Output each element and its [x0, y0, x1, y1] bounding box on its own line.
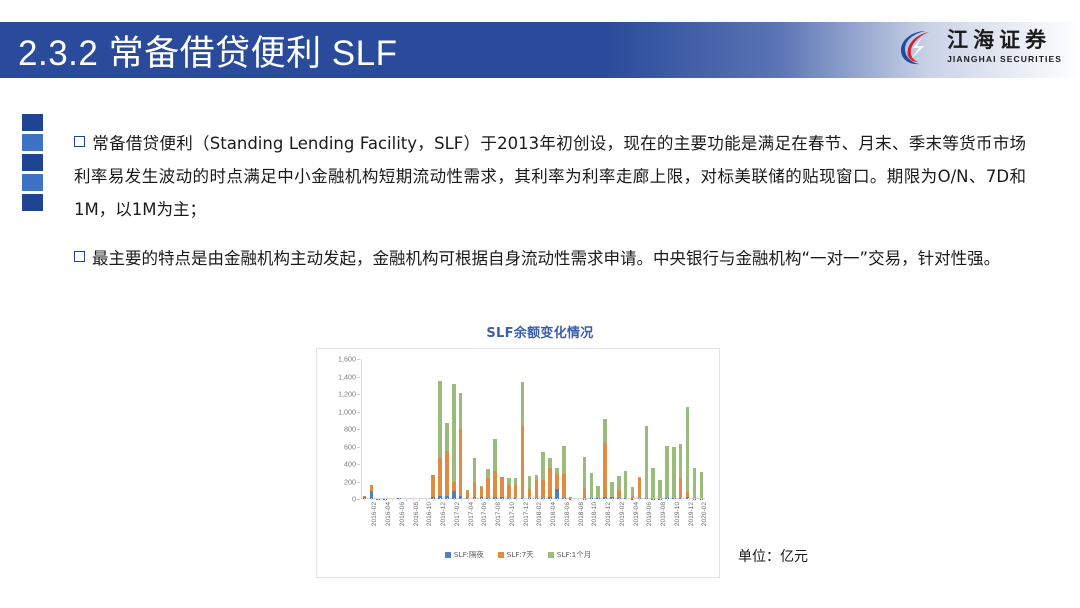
bar-segment	[562, 474, 565, 498]
stacked-bar	[363, 359, 366, 499]
x-axis-label-cell	[622, 501, 629, 553]
x-axis-label-cell: 2017-06	[478, 501, 485, 553]
x-axis-label-cell: 2019-12	[684, 501, 691, 553]
square-bullet-icon	[74, 136, 85, 147]
stacked-bar	[459, 359, 462, 499]
x-axis-tick	[433, 498, 434, 501]
x-axis-tick	[371, 498, 372, 501]
x-axis-tick	[653, 498, 654, 501]
bar-column	[395, 359, 402, 499]
x-axis-label-cell: 2016-02	[368, 501, 375, 553]
stacked-bar	[397, 359, 400, 499]
bar-segment	[645, 426, 648, 498]
x-axis-tick	[701, 498, 702, 501]
y-axis-tick-label: 1,000	[338, 407, 356, 416]
square-bullet-icon	[74, 251, 85, 262]
bar-segment	[541, 480, 544, 498]
slide-root: 2.3.2 常备借贷便利 SLF 江海证券 JIANGHAI SECURITIE…	[0, 0, 1080, 608]
bar-column	[499, 359, 506, 499]
y-axis-tick	[357, 482, 360, 483]
bar-segment	[535, 480, 538, 498]
x-axis-label-cell: 2018-02	[533, 501, 540, 553]
x-axis-tick	[543, 498, 544, 501]
x-axis-labels: 2016-022016-042016-062016-082016-102016-…	[361, 501, 705, 553]
stacked-bar	[418, 359, 421, 499]
bar-column	[670, 359, 677, 499]
x-axis-tick	[578, 498, 579, 501]
bar-segment	[459, 393, 462, 429]
bullet-paragraph-2: 最主要的特点是由金融机构主动发起，金融机构可根据自身流动性需求申请。中央银行与金…	[74, 242, 1026, 275]
bar-segment	[459, 429, 462, 497]
stacked-bar	[658, 359, 661, 499]
x-axis-label-cell: 2017-10	[505, 501, 512, 553]
bar-column	[361, 359, 368, 499]
stacked-bar	[645, 359, 648, 499]
x-axis-label-cell	[567, 501, 574, 553]
stacked-bar	[493, 359, 496, 499]
bar-segment	[672, 447, 675, 499]
stacked-bar	[617, 359, 620, 499]
chart-legend: SLF:隔夜SLF:7天SLF:1个月	[317, 549, 719, 560]
stacked-bar	[425, 359, 428, 499]
stacked-bar	[438, 359, 441, 499]
legend-item[interactable]: SLF:7天	[498, 549, 534, 560]
x-axis-tick	[364, 498, 365, 501]
bar-segment	[521, 426, 524, 499]
stacked-bar	[693, 359, 696, 499]
bar-segment	[596, 486, 599, 498]
x-axis-label-cell	[361, 501, 368, 553]
bar-column	[505, 359, 512, 499]
bar-column	[409, 359, 416, 499]
x-axis-label-cell	[677, 501, 684, 553]
x-axis-label-cell: 2020-02	[698, 501, 705, 553]
x-axis-label-cell: 2018-12	[602, 501, 609, 553]
x-axis-label-cell: 2016-12	[437, 501, 444, 553]
x-axis-tick	[571, 498, 572, 501]
legend-swatch-icon	[498, 552, 504, 558]
bar-column	[512, 359, 519, 499]
y-axis-tick-label: 1,600	[338, 355, 356, 364]
bar-segment	[473, 482, 476, 496]
x-axis-tick	[426, 498, 427, 501]
x-axis-label-cell: 2017-04	[464, 501, 471, 553]
bar-segment	[651, 468, 654, 498]
stacked-bar	[603, 359, 606, 499]
bar-column	[375, 359, 382, 499]
stacked-bar	[431, 359, 434, 499]
y-axis-tick	[357, 359, 360, 360]
stacked-bar	[370, 359, 373, 499]
bar-column	[677, 359, 684, 499]
stacked-bar	[700, 359, 703, 499]
bar-column	[643, 359, 650, 499]
bar-segment	[445, 423, 448, 451]
bar-column	[622, 359, 629, 499]
logo-name-cn: 江海证券	[947, 30, 1062, 51]
bar-column	[650, 359, 657, 499]
page-title: 2.3.2 常备借贷便利 SLF	[18, 22, 397, 78]
deco-square-5	[22, 194, 43, 211]
bar-segment	[638, 478, 641, 498]
y-axis-tick-label: 1,200	[338, 390, 356, 399]
stacked-bar	[672, 359, 675, 499]
legend-swatch-icon	[445, 552, 451, 558]
x-axis-tick	[674, 498, 675, 501]
bar-segment	[480, 487, 483, 497]
bar-segment	[528, 489, 531, 498]
deco-square-2	[22, 134, 43, 151]
x-axis-tick	[481, 498, 482, 501]
x-axis-label-cell	[416, 501, 423, 553]
legend-item[interactable]: SLF:1个月	[548, 549, 591, 560]
legend-item[interactable]: SLF:隔夜	[445, 549, 484, 560]
bar-column	[478, 359, 485, 499]
bar-column	[615, 359, 622, 499]
x-axis-tick	[454, 498, 455, 501]
x-axis-tick	[413, 498, 414, 501]
stacked-bar	[555, 359, 558, 499]
x-axis-tick	[688, 498, 689, 501]
x-axis-tick	[681, 498, 682, 501]
bar-segment	[603, 419, 606, 444]
x-axis-label-cell	[581, 501, 588, 553]
bar-column	[602, 359, 609, 499]
x-axis-tick	[523, 498, 524, 501]
bar-segment	[686, 407, 689, 492]
x-axis-tick	[605, 498, 606, 501]
x-axis-tick	[639, 498, 640, 501]
bar-column	[574, 359, 581, 499]
stacked-bar	[390, 359, 393, 499]
bar-column	[430, 359, 437, 499]
x-axis-label-cell: 2018-10	[588, 501, 595, 553]
bar-segment	[658, 480, 661, 498]
bar-column	[540, 359, 547, 499]
x-axis-tick	[488, 498, 489, 501]
stacked-bar	[480, 359, 483, 499]
stacked-bar	[473, 359, 476, 499]
bullet-paragraph-1: 常备借贷便利（Standing Lending Facility，SLF）于20…	[74, 127, 1026, 226]
stacked-bar	[651, 359, 654, 499]
x-axis-tick	[584, 498, 585, 501]
y-axis-tick	[357, 429, 360, 430]
bar-column	[609, 359, 616, 499]
x-axis-label-cell: 2017-02	[450, 501, 457, 553]
x-axis-label-cell: 2019-02	[615, 501, 622, 553]
deco-square-4	[22, 174, 43, 191]
x-axis-label-cell: 2017-12	[519, 501, 526, 553]
bar-segment	[679, 478, 682, 497]
x-axis-tick	[598, 498, 599, 501]
bar-segment	[528, 476, 531, 490]
x-axis-label-cell	[540, 501, 547, 553]
stacked-bar	[679, 359, 682, 499]
bar-column	[588, 359, 595, 499]
bar-column	[581, 359, 588, 499]
deco-square-3	[22, 154, 43, 171]
x-axis-label-cell: 2016-10	[423, 501, 430, 553]
x-axis-label-cell: 2019-06	[643, 501, 650, 553]
bar-segment	[431, 475, 434, 498]
unit-annotation: 单位：亿元	[738, 546, 808, 566]
stacked-bar	[610, 359, 613, 499]
stacked-bar	[514, 359, 517, 499]
bar-column	[450, 359, 457, 499]
bar-segment	[493, 471, 496, 497]
jianghai-swoosh-icon	[896, 26, 938, 68]
stacked-bar	[596, 359, 599, 499]
stacked-bar	[383, 359, 386, 499]
bar-segment	[555, 474, 558, 489]
x-axis-label-cell	[650, 501, 657, 553]
x-axis-tick	[440, 498, 441, 501]
legend-label: SLF:隔夜	[454, 549, 484, 560]
x-axis-label-cell: 2018-06	[560, 501, 567, 553]
legend-swatch-icon	[548, 552, 554, 558]
x-axis-label-cell	[375, 501, 382, 553]
bar-segment	[603, 443, 606, 497]
x-axis-label-cell	[471, 501, 478, 553]
y-axis-tick	[357, 447, 360, 448]
y-axis-tick	[357, 377, 360, 378]
chart-title: SLF余额变化情况	[0, 322, 1080, 341]
x-axis-label-cell: 2016-04	[382, 501, 389, 553]
bar-column	[698, 359, 705, 499]
bar-segment	[438, 458, 441, 496]
bar-column	[554, 359, 561, 499]
bar-segment	[548, 468, 551, 497]
legend-label: SLF:7天	[507, 549, 534, 560]
bar-column	[547, 359, 554, 499]
stacked-bar	[638, 359, 641, 499]
x-axis-label-cell	[389, 501, 396, 553]
x-axis-tick	[392, 498, 393, 501]
stacked-bar	[631, 359, 634, 499]
bar-segment	[445, 451, 448, 497]
x-axis-tick	[536, 498, 537, 501]
bar-segment	[610, 482, 613, 496]
bar-segment	[486, 478, 489, 498]
x-axis-label-cell: 2017-08	[492, 501, 499, 553]
bar-segment	[473, 458, 476, 482]
stacked-bar	[665, 359, 668, 499]
bar-segment	[514, 478, 517, 485]
bar-segment	[493, 439, 496, 471]
decorative-squares	[22, 114, 43, 211]
bar-column	[636, 359, 643, 499]
chart-plot-area: 02004006008001,0001,2001,4001,600	[361, 359, 705, 499]
x-axis-tick	[529, 498, 530, 501]
y-axis-tick-label: 800	[344, 425, 356, 434]
x-axis-tick	[660, 498, 661, 501]
bar-segment	[583, 488, 586, 499]
x-axis-label-cell: 2019-04	[629, 501, 636, 553]
bar-column	[464, 359, 471, 499]
x-axis-tick	[461, 498, 462, 501]
bar-segment	[590, 473, 593, 498]
x-axis-tick-label: 2020-02	[701, 502, 708, 526]
stacked-bar	[376, 359, 379, 499]
bar-column	[519, 359, 526, 499]
x-axis-tick	[619, 498, 620, 501]
bar-column	[664, 359, 671, 499]
bar-column	[492, 359, 499, 499]
stacked-bar	[528, 359, 531, 499]
x-axis-label-cell	[691, 501, 698, 553]
bar-segment	[562, 446, 565, 474]
stacked-bar	[507, 359, 510, 499]
bar-segment	[617, 490, 620, 498]
x-axis-label-cell	[554, 501, 561, 553]
x-axis-tick	[557, 498, 558, 501]
paragraph-1-text: 常备借贷便利（Standing Lending Facility，SLF）于20…	[74, 134, 1026, 219]
logo-text-block: 江海证券 JIANGHAI SECURITIES	[947, 30, 1062, 64]
deco-square-1	[22, 114, 43, 131]
stacked-bar	[411, 359, 414, 499]
stacked-bar	[590, 359, 593, 499]
stacked-bar	[624, 359, 627, 499]
x-axis-tick	[406, 498, 407, 501]
bar-column	[382, 359, 389, 499]
bar-segment	[693, 468, 696, 499]
stacked-bar	[562, 359, 565, 499]
company-logo: 江海证券 JIANGHAI SECURITIES	[896, 26, 1062, 68]
bar-segment	[452, 482, 455, 492]
bar-segment	[631, 487, 634, 497]
x-axis-label-cell	[595, 501, 602, 553]
bar-column	[457, 359, 464, 499]
x-axis-label-cell	[402, 501, 409, 553]
bar-column	[595, 359, 602, 499]
bar-column	[444, 359, 451, 499]
x-axis-tick	[591, 498, 592, 501]
logo-name-en: JIANGHAI SECURITIES	[947, 55, 1062, 64]
bar-segment	[514, 485, 517, 498]
body-content: 常备借贷便利（Standing Lending Facility，SLF）于20…	[74, 110, 1026, 277]
bar-column	[402, 359, 409, 499]
x-axis-tick	[385, 498, 386, 501]
bar-column	[533, 359, 540, 499]
legend-label: SLF:1个月	[557, 549, 591, 560]
stacked-bar	[583, 359, 586, 499]
x-axis-tick	[550, 498, 551, 501]
x-axis-tick	[564, 498, 565, 501]
x-axis-tick	[516, 498, 517, 501]
bar-segment	[507, 485, 510, 499]
x-axis-label-cell	[430, 501, 437, 553]
x-axis-tick	[502, 498, 503, 501]
bar-segment	[541, 452, 544, 480]
stacked-bar	[452, 359, 455, 499]
bar-segment	[500, 477, 503, 497]
bar-column	[389, 359, 396, 499]
x-axis-tick	[474, 498, 475, 501]
x-axis-tick	[612, 498, 613, 501]
bar-segment	[548, 458, 551, 469]
x-axis-tick	[646, 498, 647, 501]
bar-column	[560, 359, 567, 499]
chart-container: 02004006008001,0001,2001,4001,600 2016-0…	[316, 348, 720, 578]
bar-segment	[679, 444, 682, 478]
y-axis-tick	[357, 499, 360, 500]
x-axis-tick	[626, 498, 627, 501]
bar-column	[368, 359, 375, 499]
x-axis-label-cell: 2019-08	[657, 501, 664, 553]
bar-segment	[438, 381, 441, 458]
y-axis-tick	[357, 394, 360, 395]
y-axis-tick	[357, 412, 360, 413]
x-axis-label-cell: 2019-10	[670, 501, 677, 553]
bar-column	[416, 359, 423, 499]
x-axis-tick	[667, 498, 668, 501]
bar-segment	[665, 446, 668, 499]
bar-column	[657, 359, 664, 499]
bar-series-group	[361, 359, 705, 499]
x-axis-label-cell: 2016-06	[395, 501, 402, 553]
x-axis-tick	[468, 498, 469, 501]
bar-segment	[486, 469, 489, 477]
bar-segment	[617, 476, 620, 490]
bar-column	[567, 359, 574, 499]
bar-column	[423, 359, 430, 499]
bar-column	[485, 359, 492, 499]
x-axis-tick	[447, 498, 448, 501]
x-axis-label-cell	[457, 501, 464, 553]
stacked-bar	[486, 359, 489, 499]
x-axis-tick	[419, 498, 420, 501]
x-axis-label-cell	[526, 501, 533, 553]
stacked-bar	[569, 359, 572, 499]
stacked-bar	[466, 359, 469, 499]
x-axis-label-cell	[499, 501, 506, 553]
bar-column	[629, 359, 636, 499]
y-axis-tick-label: 400	[344, 460, 356, 469]
y-axis-tick-label: 200	[344, 477, 356, 486]
y-axis-tick-label: 1,400	[338, 372, 356, 381]
x-axis-tick	[509, 498, 510, 501]
stacked-bar	[404, 359, 407, 499]
x-axis-label-cell	[512, 501, 519, 553]
stacked-bar	[500, 359, 503, 499]
x-axis-label-cell: 2016-08	[409, 501, 416, 553]
paragraph-2-text: 最主要的特点是由金融机构主动发起，金融机构可根据自身流动性需求申请。中央银行与金…	[92, 249, 1000, 268]
x-axis-tick	[495, 498, 496, 501]
bar-column	[437, 359, 444, 499]
bar-column	[691, 359, 698, 499]
x-axis-label-cell	[636, 501, 643, 553]
x-axis-tick	[694, 498, 695, 501]
bar-column	[526, 359, 533, 499]
bar-segment	[700, 472, 703, 498]
x-axis-label-cell	[664, 501, 671, 553]
bar-column	[684, 359, 691, 499]
x-axis-label-cell: 2018-08	[574, 501, 581, 553]
x-axis-label-cell	[609, 501, 616, 553]
x-axis-label-cell	[444, 501, 451, 553]
x-axis-label-cell: 2018-04	[547, 501, 554, 553]
bar-segment	[452, 384, 455, 481]
stacked-bar	[535, 359, 538, 499]
stacked-bar	[576, 359, 579, 499]
stacked-bar	[445, 359, 448, 499]
bar-segment	[521, 382, 524, 425]
x-axis-tick	[378, 498, 379, 501]
bar-segment	[624, 471, 627, 499]
x-axis-tick	[399, 498, 400, 501]
bar-segment	[583, 457, 586, 488]
stacked-bar	[548, 359, 551, 499]
